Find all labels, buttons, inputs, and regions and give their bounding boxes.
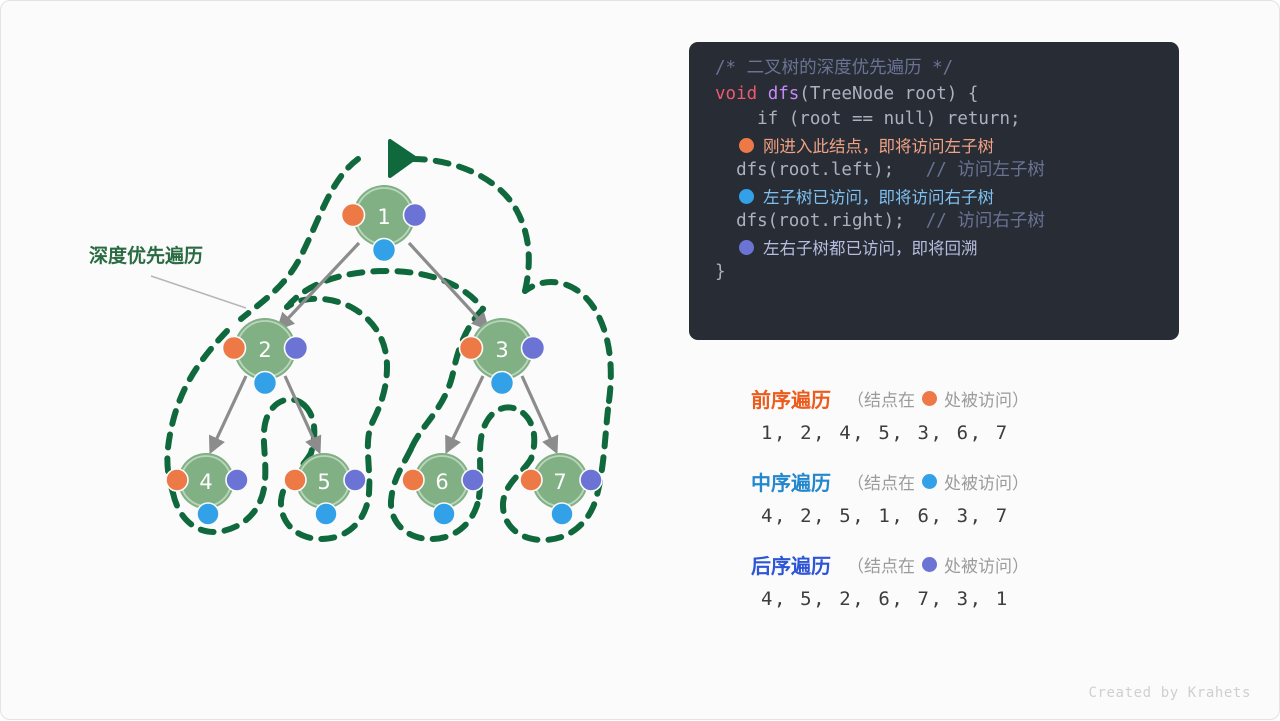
tree-nodes: 1 2 3 xyxy=(166,185,602,525)
tree-node-2[interactable]: 2 xyxy=(223,318,308,395)
result-title-postorder: 后序遍历 xyxy=(751,550,831,579)
result-group-preorder: 前序遍历 （结点在 处被访问） 1, 2, 4, 5, 3, 6, 7 xyxy=(751,383,1181,444)
result-note-prefix: （结点在 xyxy=(847,386,915,411)
post-order-marker xyxy=(226,469,248,491)
in-order-marker xyxy=(433,503,455,525)
result-sequence-postorder: 4, 5, 2, 6, 7, 3, 1 xyxy=(761,588,1181,610)
code-line-dfs-right: dfs(root.right); // 访问右子树 xyxy=(689,209,1179,235)
pre-order-marker xyxy=(460,337,483,360)
traversal-results: 前序遍历 （结点在 处被访问） 1, 2, 4, 5, 3, 6, 7 中序遍历… xyxy=(751,383,1181,632)
edge-2-4 xyxy=(211,376,246,451)
post-order-marker xyxy=(285,337,308,360)
code-token-keyword: void xyxy=(715,84,768,104)
result-header-preorder: 前序遍历 （结点在 处被访问） xyxy=(751,383,1181,413)
tree-svg: 1 2 3 xyxy=(1,1,661,721)
code-annotation-postorder-text: 左右子树都已访问，即将回溯 xyxy=(763,235,978,259)
code-line-signature: void dfs(TreeNode root) { xyxy=(689,82,1179,108)
result-title-inorder: 中序遍历 xyxy=(751,467,831,496)
code-token-comment: // 访问左子树 xyxy=(926,160,1045,180)
tree-node-6-label: 6 xyxy=(435,470,448,494)
code-block: /* 二叉树的深度优先遍历 */ void dfs(TreeNode root)… xyxy=(689,42,1179,340)
result-note-suffix: 处被访问） xyxy=(944,469,1029,494)
traversal-start-arrow-icon xyxy=(390,141,415,176)
post-order-marker xyxy=(344,469,366,491)
result-note-suffix: 处被访问） xyxy=(944,386,1029,411)
code-line-dfs-left: dfs(root.left); // 访问左子树 xyxy=(689,158,1179,184)
edge-1-3 xyxy=(409,243,487,328)
pre-order-marker-icon xyxy=(922,391,937,406)
code-line-nullcheck: if (root == null) return; xyxy=(689,107,1179,133)
code-token-comment: /* 二叉树的深度优先遍历 */ xyxy=(715,58,953,78)
post-order-marker xyxy=(404,204,427,227)
tree-node-3[interactable]: 3 xyxy=(460,318,545,395)
code-annotation-preorder-text: 刚进入此结点，即将访问左子树 xyxy=(763,133,994,157)
result-note-suffix: 处被访问） xyxy=(944,552,1029,577)
tree-node-4[interactable]: 4 xyxy=(166,453,248,525)
result-header-postorder: 后序遍历 （结点在 处被访问） xyxy=(751,549,1181,579)
code-annotation-preorder: 刚进入此结点，即将访问左子树 xyxy=(689,133,1179,159)
code-token-plain: (TreeNode root) { xyxy=(799,84,978,104)
result-group-inorder: 中序遍历 （结点在 处被访问） 4, 2, 5, 1, 6, 3, 7 xyxy=(751,466,1181,527)
post-order-marker-icon xyxy=(922,557,937,572)
tree-node-1-label: 1 xyxy=(377,205,390,229)
result-sequence-inorder: 4, 2, 5, 1, 6, 3, 7 xyxy=(761,505,1181,527)
post-order-marker xyxy=(462,469,484,491)
code-token-comment: // 访问右子树 xyxy=(926,211,1045,231)
in-order-marker xyxy=(551,503,573,525)
post-order-marker xyxy=(580,469,602,491)
in-order-marker xyxy=(373,239,396,262)
path-3-to-6 xyxy=(411,309,483,449)
in-order-marker-icon xyxy=(739,189,754,204)
code-token-plain: if (root == null) return; xyxy=(715,109,1021,129)
tree-node-7-label: 7 xyxy=(553,470,566,494)
edge-3-6 xyxy=(447,376,483,451)
in-order-marker xyxy=(315,503,337,525)
path-6-to-7-arc xyxy=(479,407,523,497)
code-annotation-inorder-text: 左子树已访问，即将访问右子树 xyxy=(763,184,994,208)
code-line-comment: /* 二叉树的深度优先遍历 */ xyxy=(689,56,1179,82)
result-group-postorder: 后序遍历 （结点在 处被访问） 4, 5, 2, 6, 7, 3, 1 xyxy=(751,549,1181,610)
code-annotation-inorder: 左子树已访问，即将访问右子树 xyxy=(689,184,1179,210)
tree-node-4-label: 4 xyxy=(199,470,212,494)
pre-order-marker xyxy=(402,469,424,491)
footer-credit: Created by Krahets xyxy=(1088,685,1251,701)
post-order-marker-icon xyxy=(739,240,754,255)
code-token-function: dfs xyxy=(768,84,800,104)
result-note-inorder: （结点在 处被访问） xyxy=(847,469,1029,494)
tree-node-3-label: 3 xyxy=(495,338,508,362)
tree-node-5[interactable]: 5 xyxy=(284,453,366,525)
tree-node-5-label: 5 xyxy=(317,470,330,494)
code-token-plain: dfs(root.left); xyxy=(715,160,926,180)
result-note-preorder: （结点在 处被访问） xyxy=(847,386,1029,411)
in-order-marker xyxy=(491,372,514,395)
pre-order-marker xyxy=(284,469,306,491)
result-note-prefix: （结点在 xyxy=(847,469,915,494)
binary-tree-diagram: 1 2 3 xyxy=(1,1,661,721)
pre-order-marker xyxy=(166,469,188,491)
diagram-canvas: 1 2 3 xyxy=(0,0,1280,720)
dfs-label-leader-line xyxy=(151,276,246,308)
post-order-marker xyxy=(522,337,545,360)
code-token-plain: } xyxy=(715,262,726,282)
path-3-back-to-root xyxy=(413,159,529,291)
path-root-to-2 xyxy=(241,159,358,319)
result-sequence-preorder: 1, 2, 4, 5, 3, 6, 7 xyxy=(761,422,1181,444)
code-annotation-postorder: 左右子树都已访问，即将回溯 xyxy=(689,235,1179,261)
pre-order-marker xyxy=(223,337,246,360)
result-note-prefix: （结点在 xyxy=(847,552,915,577)
code-token-plain: dfs(root.right); xyxy=(715,211,926,231)
path-7-descend xyxy=(523,413,534,459)
pre-order-marker xyxy=(342,204,365,227)
code-line-close-brace: } xyxy=(689,260,1179,286)
in-order-marker-icon xyxy=(922,474,937,489)
edge-2-5 xyxy=(285,376,319,451)
dfs-label: 深度优先遍历 xyxy=(89,241,203,268)
pre-order-marker xyxy=(520,469,542,491)
edge-1-2 xyxy=(279,243,359,328)
in-order-marker xyxy=(197,503,219,525)
in-order-marker xyxy=(254,372,277,395)
result-note-postorder: （结点在 处被访问） xyxy=(847,552,1029,577)
pre-order-marker-icon xyxy=(739,138,754,153)
tree-node-2-label: 2 xyxy=(258,338,271,362)
result-header-inorder: 中序遍历 （结点在 处被访问） xyxy=(751,466,1181,496)
result-title-preorder: 前序遍历 xyxy=(751,384,831,413)
